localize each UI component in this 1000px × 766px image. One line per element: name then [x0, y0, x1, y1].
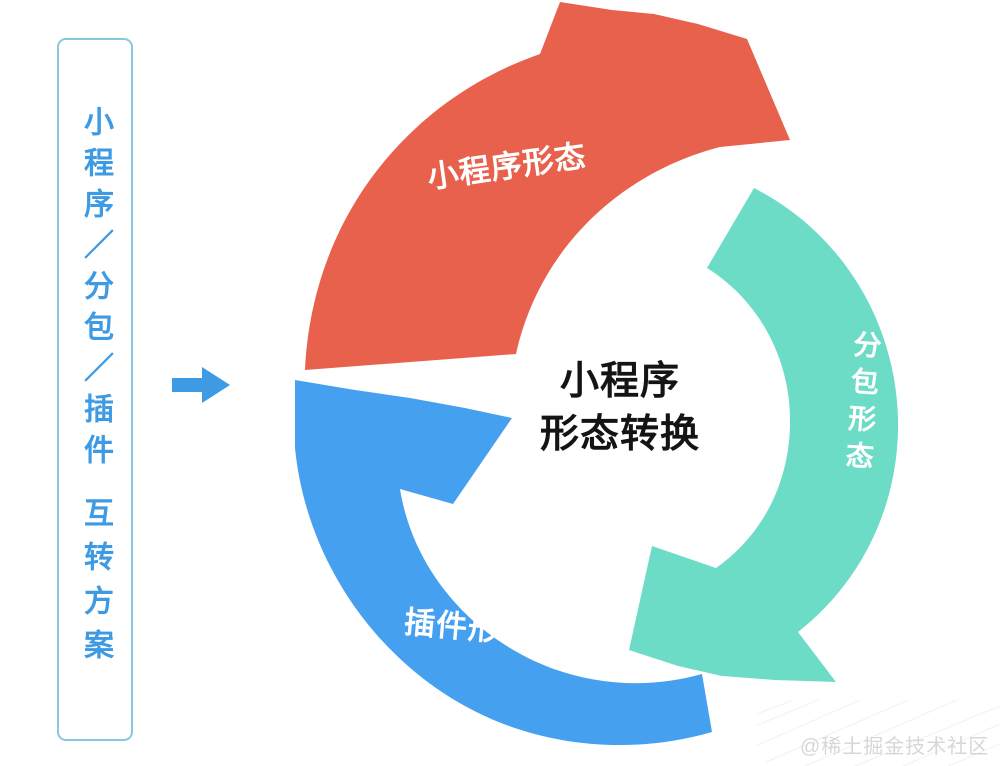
diagram-canvas: 小程序／分包／插件 互转方案 小程序形态 分包形态 插件形态 小程序 形态转换 [0, 0, 1000, 766]
arrow-right-icon [172, 366, 230, 404]
vertical-caption-box: 小程序／分包／插件 互转方案 [57, 38, 133, 741]
center-title: 小程序 形态转换 [500, 356, 740, 461]
center-title-line-2: 形态转换 [500, 409, 740, 462]
watermark-text: @稀土掘金技术社区 [800, 730, 989, 759]
center-title-line-1: 小程序 [500, 356, 740, 409]
caption-text-bottom: 互转方案 [80, 497, 110, 673]
caption-text-top: 小程序／分包／插件 [80, 106, 110, 475]
arrow-shape-red [305, 2, 790, 370]
